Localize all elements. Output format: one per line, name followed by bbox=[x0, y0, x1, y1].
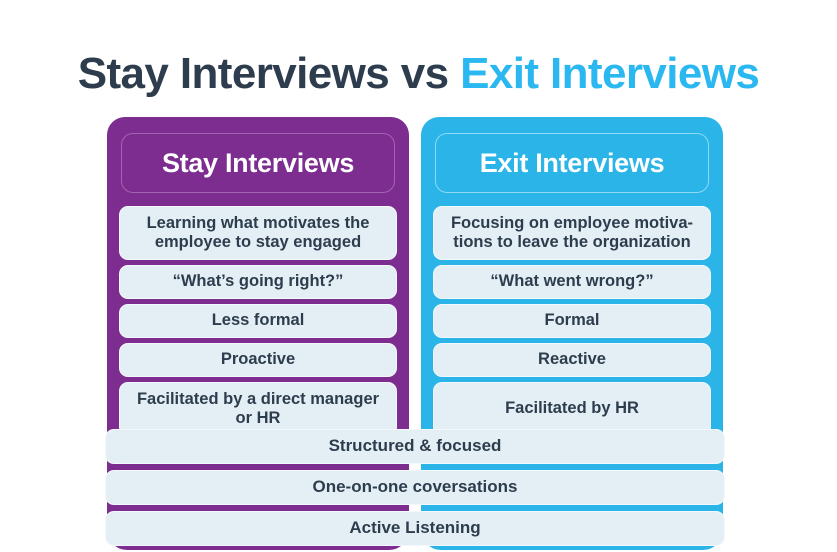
comparison-item: Formal bbox=[433, 304, 711, 338]
column-header-exit: Exit Interviews bbox=[435, 133, 709, 193]
shared-comparison-item: Active Listening bbox=[105, 511, 725, 546]
title-segment-stay: Stay Interviews vs bbox=[78, 49, 460, 98]
comparison-item: “What went wrong?” bbox=[433, 265, 711, 299]
column-header-stay: Stay Interviews bbox=[121, 133, 395, 193]
shared-comparison-item: One-on-one coversations bbox=[105, 470, 725, 505]
column-item-list-stay: Learning what motivates the employee to … bbox=[119, 206, 397, 441]
shared-comparison-item: Structured & focused bbox=[105, 429, 725, 464]
column-item-list-exit: Focusing on employee motiva-tions to lea… bbox=[433, 206, 711, 441]
comparison-item: Proactive bbox=[119, 343, 397, 377]
comparison-item: Less formal bbox=[119, 304, 397, 338]
title-segment-exit: Exit Interviews bbox=[460, 49, 759, 98]
comparison-item: Reactive bbox=[433, 343, 711, 377]
comparison-item: Facilitated by a direct manager or HR bbox=[119, 382, 397, 436]
comparison-item: “What’s going right?” bbox=[119, 265, 397, 299]
page-title: Stay Interviews vs Exit Interviews bbox=[0, 49, 837, 99]
comparison-item: Focusing on employee motiva-tions to lea… bbox=[433, 206, 711, 260]
shared-row-list: Structured & focusedOne-on-one coversati… bbox=[105, 429, 725, 552]
comparison-board: Stay Interviews Learning what motivates … bbox=[107, 117, 723, 550]
comparison-item: Facilitated by HR bbox=[433, 382, 711, 436]
comparison-item: Learning what motivates the employee to … bbox=[119, 206, 397, 260]
